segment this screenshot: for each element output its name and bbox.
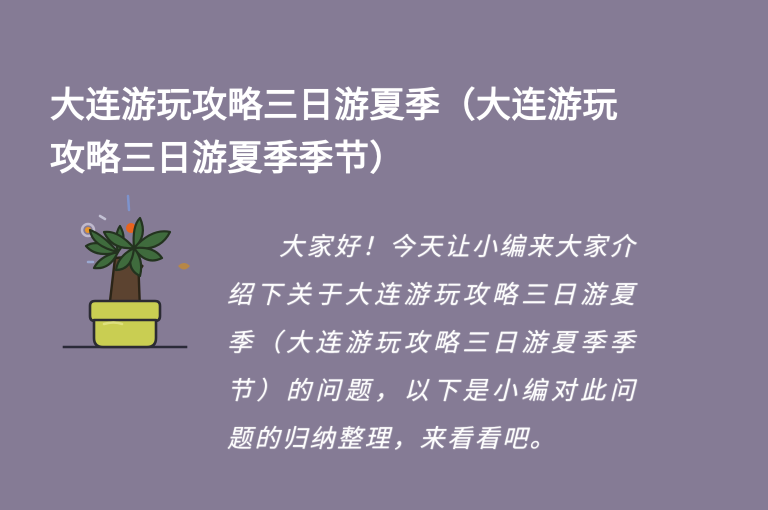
amber-leaf-speck [178,263,190,270]
page-title: 大连游玩攻略三日游夏季（大连游玩攻略三日游夏季季节） [50,79,650,185]
article-page: 大连游玩攻略三日游夏季（大连游玩攻略三日游夏季季节） [0,0,768,510]
article-body-text: 大家好！今天让小编来大家介绍下关于大连游玩攻略三日游夏季（大连游玩攻略三日游夏季… [227,223,637,463]
potted-plant-illustration [52,186,212,361]
pot-rim [90,301,160,321]
light-speck [100,216,105,219]
blue-speck-top [128,196,129,210]
